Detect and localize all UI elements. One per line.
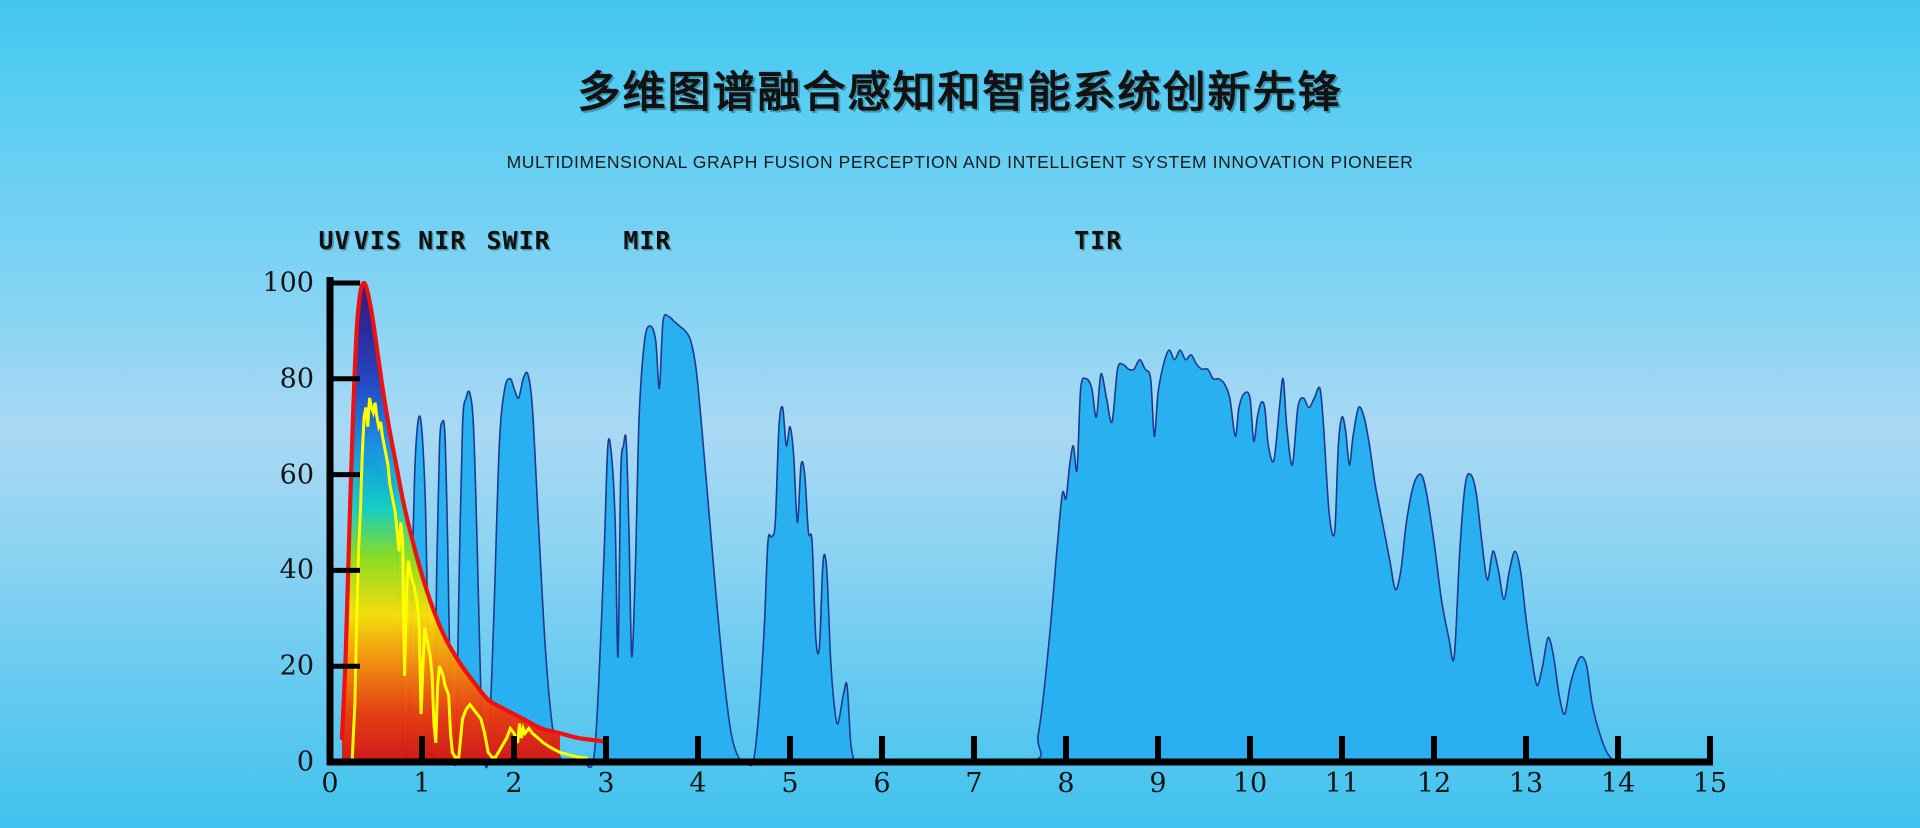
x-tick-label: 7 bbox=[965, 768, 982, 799]
x-tick-label: 13 bbox=[1509, 768, 1543, 799]
y-tick-label: 20 bbox=[232, 651, 314, 682]
band-label-swir: SWIR bbox=[486, 226, 550, 255]
band-label-mir: MIR bbox=[623, 226, 671, 255]
x-tick-label: 2 bbox=[505, 768, 522, 799]
poster-stage: 多维图谱融合感知和智能系统创新先锋 MULTIDIMENSIONAL GRAPH… bbox=[0, 0, 1920, 828]
y-tick-label: 60 bbox=[232, 459, 314, 490]
x-tick-label: 6 bbox=[873, 768, 890, 799]
x-tick-label: 0 bbox=[321, 768, 338, 799]
x-tick-label: 8 bbox=[1057, 768, 1074, 799]
band-label-uv: UV bbox=[319, 226, 351, 255]
band-label-vis: VIS bbox=[354, 226, 402, 255]
band-label-tir: TIR bbox=[1074, 226, 1122, 255]
y-tick-label: 100 bbox=[232, 268, 314, 299]
x-tick-label: 10 bbox=[1233, 768, 1267, 799]
spectrum-svg bbox=[0, 0, 1920, 828]
x-tick-label: 9 bbox=[1149, 768, 1166, 799]
x-tick-label: 12 bbox=[1417, 768, 1451, 799]
x-tick-label: 4 bbox=[689, 768, 706, 799]
y-tick-label: 0 bbox=[232, 747, 314, 778]
spectrum-chart bbox=[0, 0, 1920, 828]
x-tick-label: 1 bbox=[413, 768, 430, 799]
band-label-nir: NIR bbox=[418, 226, 466, 255]
x-tick-label: 5 bbox=[781, 768, 798, 799]
y-tick-label: 40 bbox=[232, 555, 314, 586]
x-tick-label: 14 bbox=[1601, 768, 1635, 799]
y-tick-label: 80 bbox=[232, 363, 314, 394]
x-tick-label: 3 bbox=[597, 768, 614, 799]
x-tick-label: 11 bbox=[1325, 768, 1359, 799]
transmission-band bbox=[854, 350, 1614, 764]
x-tick-label: 15 bbox=[1693, 768, 1727, 799]
